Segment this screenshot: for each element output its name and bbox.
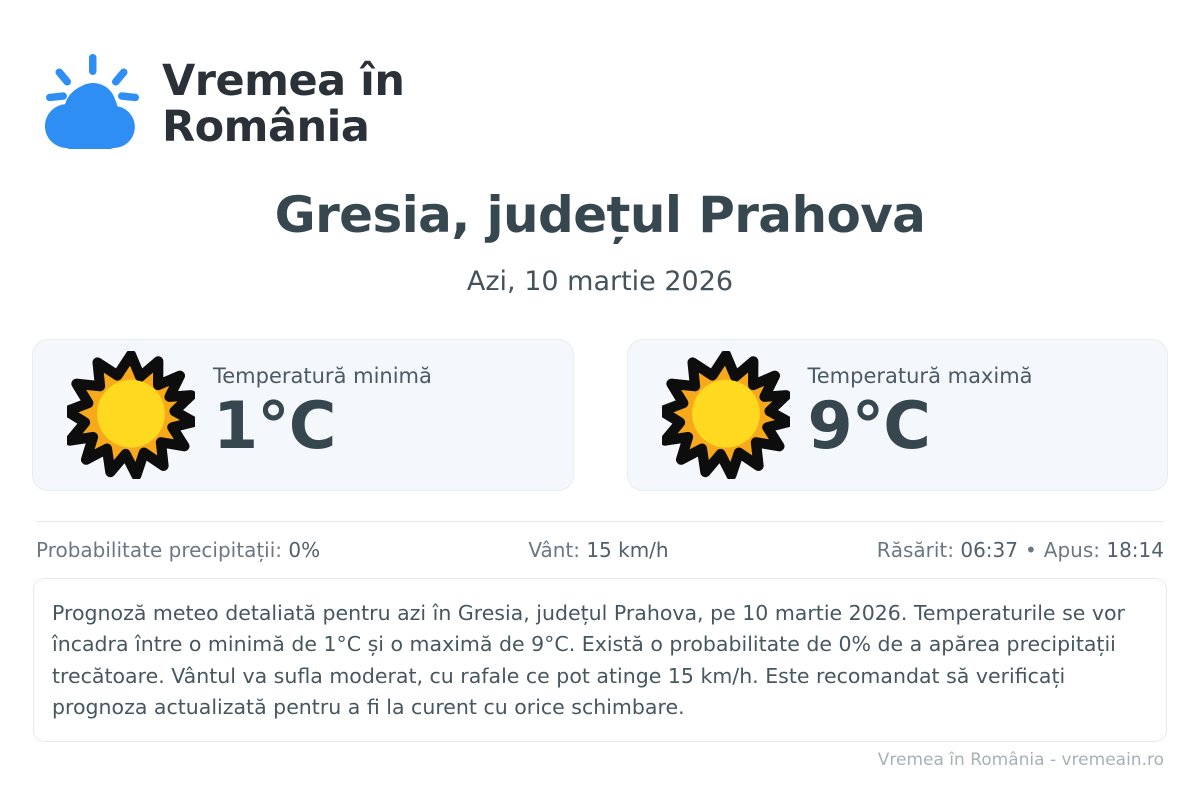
page-date: Azi, 10 martie 2026	[0, 266, 1200, 297]
footer-credit: Vremea în România - vremeain.ro	[878, 750, 1164, 770]
weather-stats: Probabilitate precipitații: 0% Vânt: 15 …	[36, 538, 1164, 562]
wind-value: 15 km/h	[586, 538, 668, 562]
precipitation-value: 0%	[288, 538, 320, 562]
page-title: Gresia, județul Prahova	[0, 186, 1200, 244]
stats-divider	[36, 521, 1164, 522]
sunrise-label: Răsărit:	[877, 538, 961, 562]
sun-icon	[662, 351, 790, 479]
temperature-min-texts: Temperatură minimă 1°C	[213, 364, 432, 465]
temperature-min-value: 1°C	[213, 392, 432, 462]
wind-stat: Vânt: 15 km/h	[320, 538, 877, 562]
precipitation-stat: Probabilitate precipitații: 0%	[36, 538, 320, 562]
precipitation-label: Probabilitate precipitații:	[36, 538, 288, 562]
sunrise-value: 06:37	[960, 538, 1018, 562]
temperature-cards: Temperatură minimă 1°C Temperatură maxim…	[32, 339, 1168, 491]
sun-times-stat: Răsărit: 06:37•Apus: 18:14	[877, 538, 1164, 562]
sunset-value: 18:14	[1106, 538, 1164, 562]
temperature-max-label: Temperatură maximă	[808, 364, 1033, 389]
temperature-max-value: 9°C	[808, 392, 1033, 462]
temperature-min-label: Temperatură minimă	[213, 364, 432, 389]
sun-behind-cloud-icon	[36, 52, 144, 156]
weather-page: Vremea în România Gresia, județul Prahov…	[0, 0, 1200, 800]
brand-name: Vremea în România	[162, 58, 404, 150]
temperature-min-card: Temperatură minimă 1°C	[32, 339, 574, 491]
wind-label: Vânt:	[528, 538, 586, 562]
brand-logo[interactable]: Vremea în România	[36, 52, 404, 156]
sunset-label: Apus:	[1044, 538, 1107, 562]
sun-times-separator: •	[1018, 538, 1044, 562]
sun-icon	[67, 351, 195, 479]
temperature-max-texts: Temperatură maximă 9°C	[808, 364, 1033, 465]
forecast-description: Prognoză meteo detaliată pentru azi în G…	[33, 578, 1167, 742]
temperature-max-card: Temperatură maximă 9°C	[627, 339, 1169, 491]
